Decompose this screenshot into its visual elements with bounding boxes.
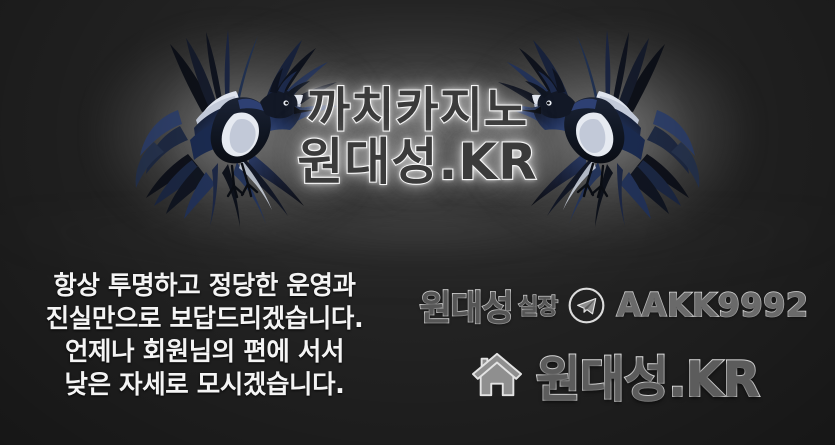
domain-text[interactable]: 원대성.KR bbox=[536, 340, 760, 411]
domain-row[interactable]: 원대성.KR bbox=[400, 340, 828, 410]
promo-banner: 까치카지노 원대성.KR 항상 투명하고 정당한 운영과 진실만으로 보답드리겠… bbox=[0, 0, 835, 445]
telegram-handle[interactable]: AAKK9992 bbox=[616, 286, 808, 324]
magpie-bird-icon-right bbox=[487, 14, 717, 229]
slogan-line-3: 언제나 회원님의 편에 서서 bbox=[12, 336, 397, 369]
lower-info-section: 항상 투명하고 정당한 운영과 진실만으로 보답드리겠습니다. 언제나 회원님의… bbox=[0, 262, 835, 445]
telegram-icon[interactable] bbox=[567, 286, 606, 325]
magpie-bird-icon-left bbox=[118, 14, 348, 229]
slogan-block: 항상 투명하고 정당한 운영과 진실만으로 보답드리겠습니다. 언제나 회원님의… bbox=[12, 270, 397, 403]
manager-contact-row: 원대성 실장 AAKK9992 bbox=[400, 276, 828, 334]
slogan-line-4: 낮은 자세로 모시겠습니다. bbox=[12, 369, 397, 402]
home-icon bbox=[469, 350, 525, 400]
slogan-line-1: 항상 투명하고 정당한 운영과 bbox=[12, 270, 397, 303]
manager-title: 실장 bbox=[518, 289, 557, 321]
contact-block: 원대성 실장 AAKK9992 bbox=[400, 276, 828, 410]
manager-name: 원대성 bbox=[419, 280, 513, 331]
slogan-line-2: 진실만으로 보답드리겠습니다. bbox=[12, 303, 397, 336]
